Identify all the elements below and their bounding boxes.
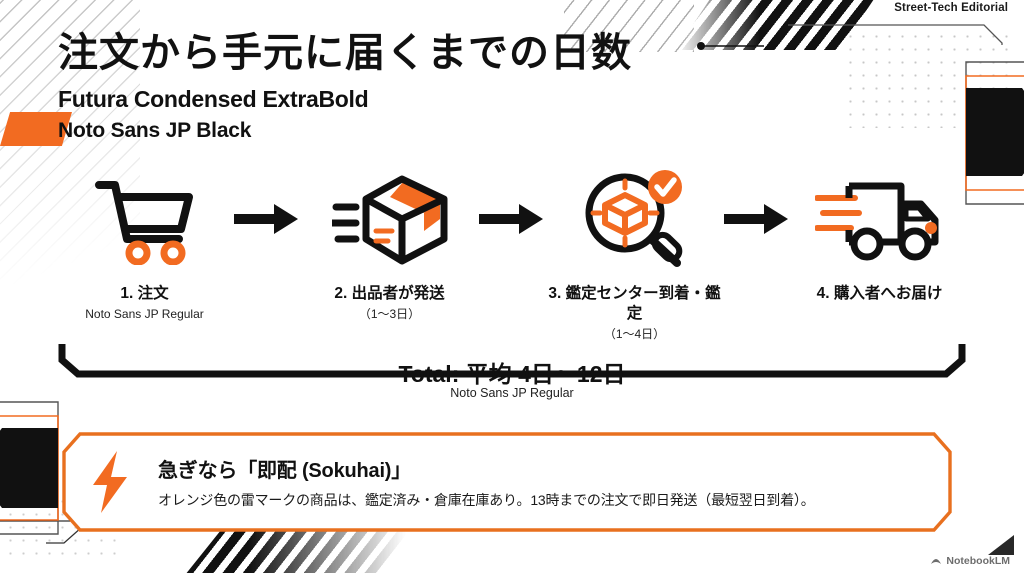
flow-step-sublabel: （1〜4日） <box>604 327 665 343</box>
delivery-truck-icon <box>815 168 945 270</box>
total-duration-label: Total: 平均 4日〜12日 <box>0 355 1024 389</box>
flow-step-sublabel: （1〜3日） <box>359 307 420 323</box>
subtitle-primary: Futura Condensed ExtraBold <box>58 86 368 113</box>
flow-step-label: 3. 鑑定センター到着・鑑定 <box>548 284 721 324</box>
callout-body: オレンジ色の雷マークの商品は、鑑定済み・倉庫在庫あり。13時までの注文で即日発送… <box>158 490 912 510</box>
lightning-bolt-icon <box>62 449 158 515</box>
flow-step-order: 1. 注文 Noto Sans JP Regular <box>58 168 231 323</box>
arrow-right-icon <box>721 168 793 270</box>
callout-title: 急ぎなら「即配 (Sokuhai)」 <box>158 454 912 483</box>
process-flow: 1. 注文 Noto Sans JP Regular <box>58 168 966 338</box>
subtitle-secondary: Noto Sans JP Black <box>58 119 251 143</box>
brand-label: Street-Tech Editorial <box>894 2 1008 14</box>
corner-fold-decoration <box>988 535 1014 555</box>
inspection-icon <box>581 168 689 270</box>
slide-canvas: Street-Tech Editorial 注文から手元に届くまでの日数 Fut… <box>0 0 1024 573</box>
flow-step-sublabel: Noto Sans JP Regular <box>85 307 204 323</box>
flow-step-label: 4. 購入者へお届け <box>817 284 943 304</box>
sokuhai-callout: 急ぎなら「即配 (Sokuhai)」 オレンジ色の雷マークの商品は、鑑定済み・倉… <box>62 432 952 532</box>
flow-step-label: 1. 注文 <box>120 284 168 304</box>
hexagon-accent-right <box>962 58 1024 208</box>
circuit-line-top-right <box>788 19 1008 45</box>
circuit-dot-line-top <box>694 40 764 60</box>
flow-step-inspection: 3. 鑑定センター到着・鑑定 （1〜4日） <box>548 168 721 343</box>
arrow-right-icon <box>476 168 548 270</box>
page-title: 注文から手元に届くまでの日数 <box>58 32 632 74</box>
shopping-cart-icon <box>93 168 197 270</box>
flow-step-shipped: 2. 出品者が発送 （1〜3日） <box>303 168 476 323</box>
flow-step-label: 2. 出品者が発送 <box>334 284 444 304</box>
notebooklm-watermark: NotebookLM <box>930 555 1010 567</box>
package-box-icon <box>332 168 448 270</box>
total-duration-sublabel: Noto Sans JP Regular <box>0 386 1024 400</box>
watermark-label: NotebookLM <box>946 555 1010 567</box>
flow-step-delivered: 4. 購入者へお届け <box>793 168 966 307</box>
arrow-right-icon <box>231 168 303 270</box>
notebooklm-icon <box>930 555 942 567</box>
